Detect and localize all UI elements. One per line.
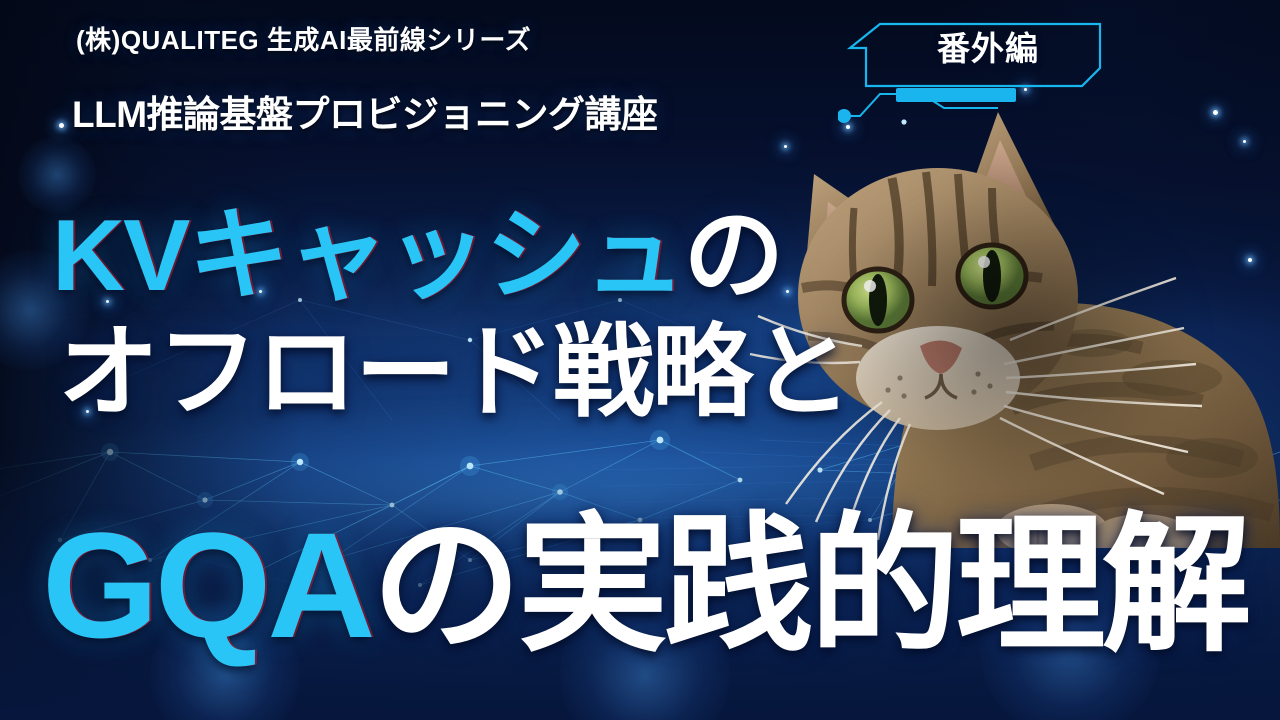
- title-line-1-accent: KVキャッシュ: [52, 200, 683, 312]
- title-line-3: GQAの実践的理解: [42, 510, 1248, 660]
- title-line-1: KVキャッシュの: [52, 206, 782, 307]
- title-line-3-rest: の実践的理解: [372, 501, 1248, 669]
- title-line-2: オフロード戦略と: [58, 323, 850, 424]
- thumbnail-canvas: (株)QUALITEG 生成AI最前線シリーズ LLM推論基盤プロビジョニング講…: [0, 0, 1280, 720]
- title-line-1-rest: の: [683, 200, 782, 312]
- main-title: KVキャッシュの オフロード戦略と GQAの実践的理解: [0, 0, 1280, 720]
- title-line-3-accent: GQA: [42, 501, 372, 669]
